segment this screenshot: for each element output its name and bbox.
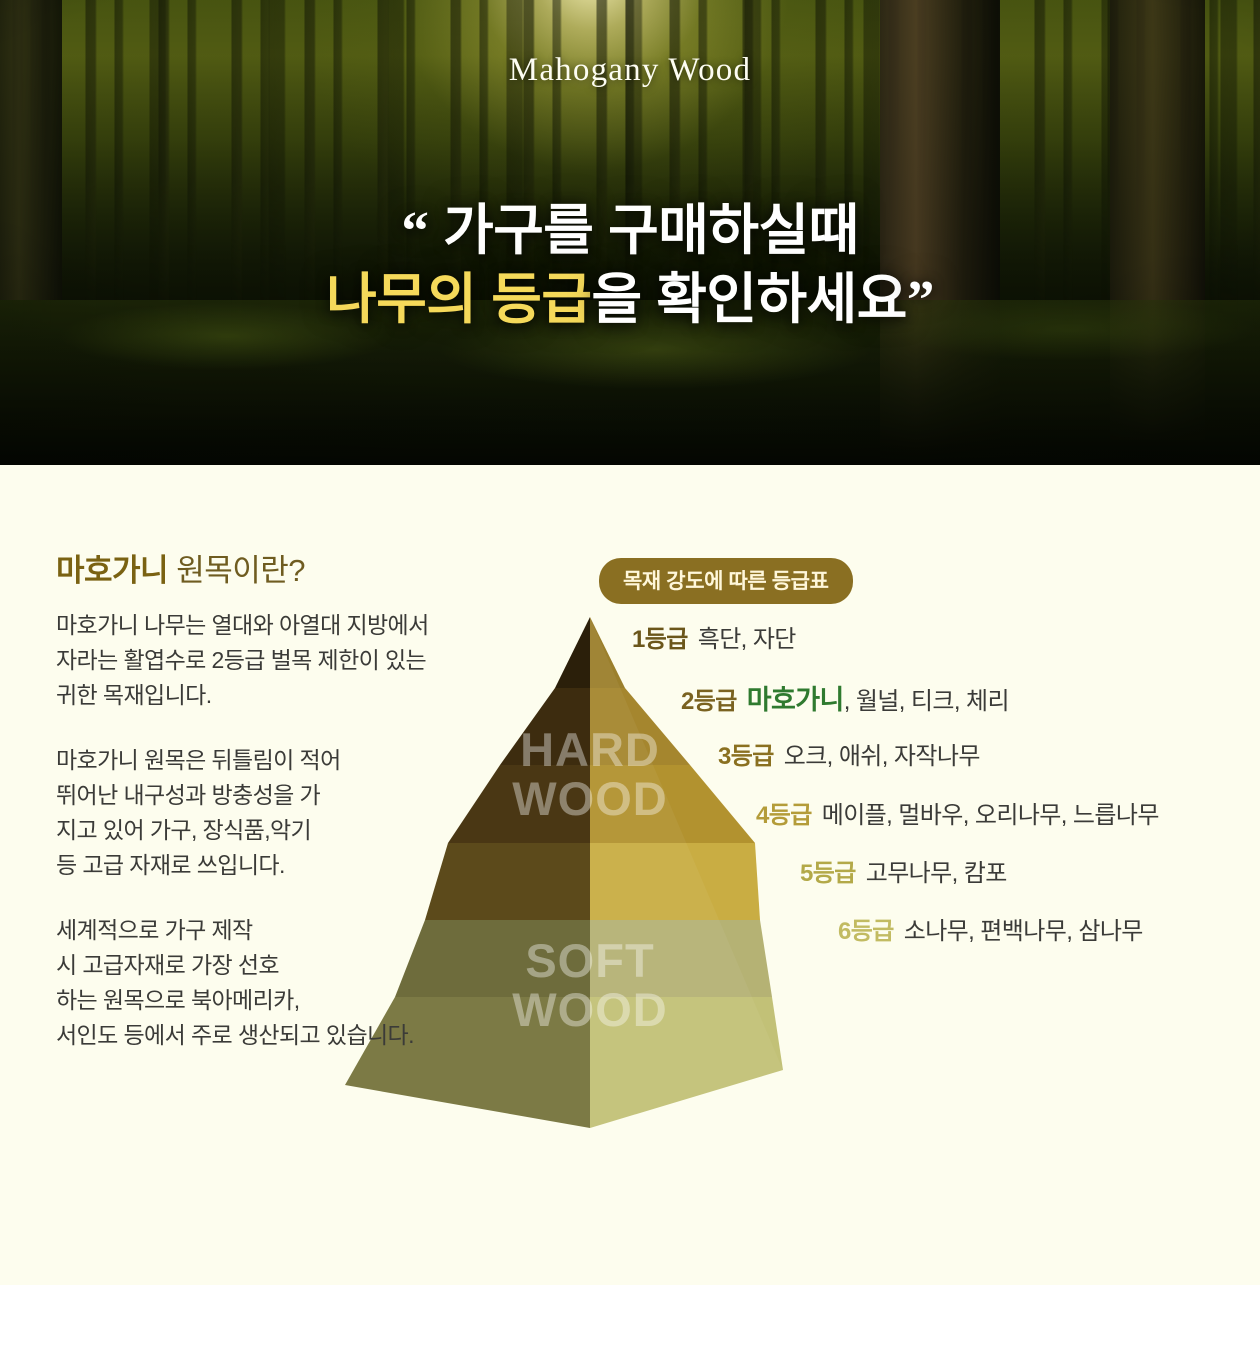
- grade-items: 흑단, 자단: [698, 626, 796, 653]
- grade-row: 2등급마호가니, 월널, 티크, 체리: [681, 678, 1009, 717]
- grade-row: 4등급메이플, 멀바우, 오리나무, 느릅나무: [756, 795, 1159, 830]
- grade-row: 5등급고무나무, 캄포: [800, 853, 1007, 888]
- grade-label: 6등급: [838, 918, 894, 945]
- grade-label: 5등급: [800, 860, 856, 887]
- grade-label: 4등급: [756, 802, 812, 829]
- grade-items: 오크, 애쉬, 자작나무: [784, 743, 980, 770]
- grade-row: 1등급흑단, 자단: [632, 619, 796, 654]
- paragraph-2: 마호가니 원목은 뒤틀림이 적어 뛰어난 내구성과 방충성을 가 지고 있어 가…: [56, 743, 561, 883]
- grade-row: 6등급소나무, 편백나무, 삼나무: [838, 911, 1143, 946]
- grade-items: 소나무, 편백나무, 삼나무: [904, 918, 1143, 945]
- grade-items: 고무나무, 캄포: [866, 860, 1007, 887]
- grade-label: 3등급: [718, 743, 774, 770]
- grade-label: 1등급: [632, 626, 688, 653]
- grade-label: 2등급: [681, 688, 737, 715]
- grade-highlight-item: 마호가니: [747, 685, 844, 715]
- paragraph-3: 세계적으로 가구 제작 시 고급자재로 가장 선호 하는 원목으로 북아메리카,…: [56, 913, 561, 1053]
- grade-items: , 월널, 티크, 체리: [844, 688, 1009, 715]
- paragraph-1: 마호가니 나무는 열대와 아열대 지방에서 자라는 활엽수로 2등급 벌목 제한…: [56, 608, 561, 713]
- infographic-page: Mahogany Wood “ 가구를 구매하실때 나무의 등급을 확인하세요”: [0, 0, 1260, 1350]
- grade-items: 메이플, 멀바우, 오리나무, 느릅나무: [822, 802, 1159, 829]
- left-text-column: 마호가니 원목이란? 마호가니 나무는 열대와 아열대 지방에서 자라는 활엽수…: [56, 545, 561, 1082]
- grade-row: 3등급오크, 애쉬, 자작나무: [718, 736, 980, 771]
- grade-table-badge: 목재 강도에 따른 등급표: [599, 558, 853, 604]
